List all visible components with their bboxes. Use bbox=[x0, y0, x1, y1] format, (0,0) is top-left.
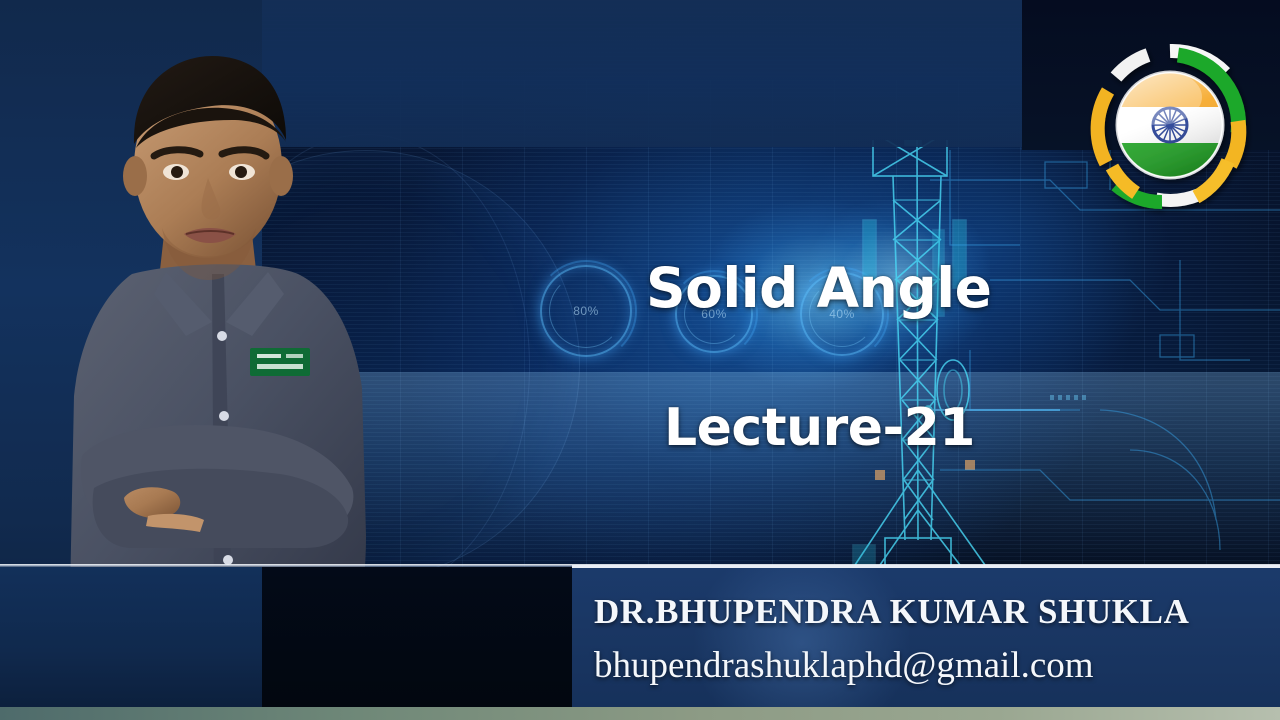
gauge-label-80: 80% bbox=[573, 304, 599, 318]
gauge-label-60: 60% bbox=[701, 307, 727, 321]
presenter-email: bhupendrashuklaphd@gmail.com bbox=[594, 644, 1094, 687]
name-badge bbox=[250, 348, 310, 376]
lower-navy-band bbox=[0, 567, 262, 707]
slide-canvas: 80% 60% 40% bbox=[0, 0, 1280, 720]
gauge-ring-80: 80% bbox=[540, 265, 632, 357]
bottom-accent-strip bbox=[0, 707, 1280, 720]
presenter-banner: DR.BHUPENDRA KUMAR SHUKLA bhupendrashukl… bbox=[572, 565, 1280, 707]
india-flag-sphere-logo bbox=[1070, 25, 1270, 225]
presenter-name: DR.BHUPENDRA KUMAR SHUKLA bbox=[594, 592, 1189, 632]
gauge-ring-60: 60% bbox=[675, 275, 753, 353]
